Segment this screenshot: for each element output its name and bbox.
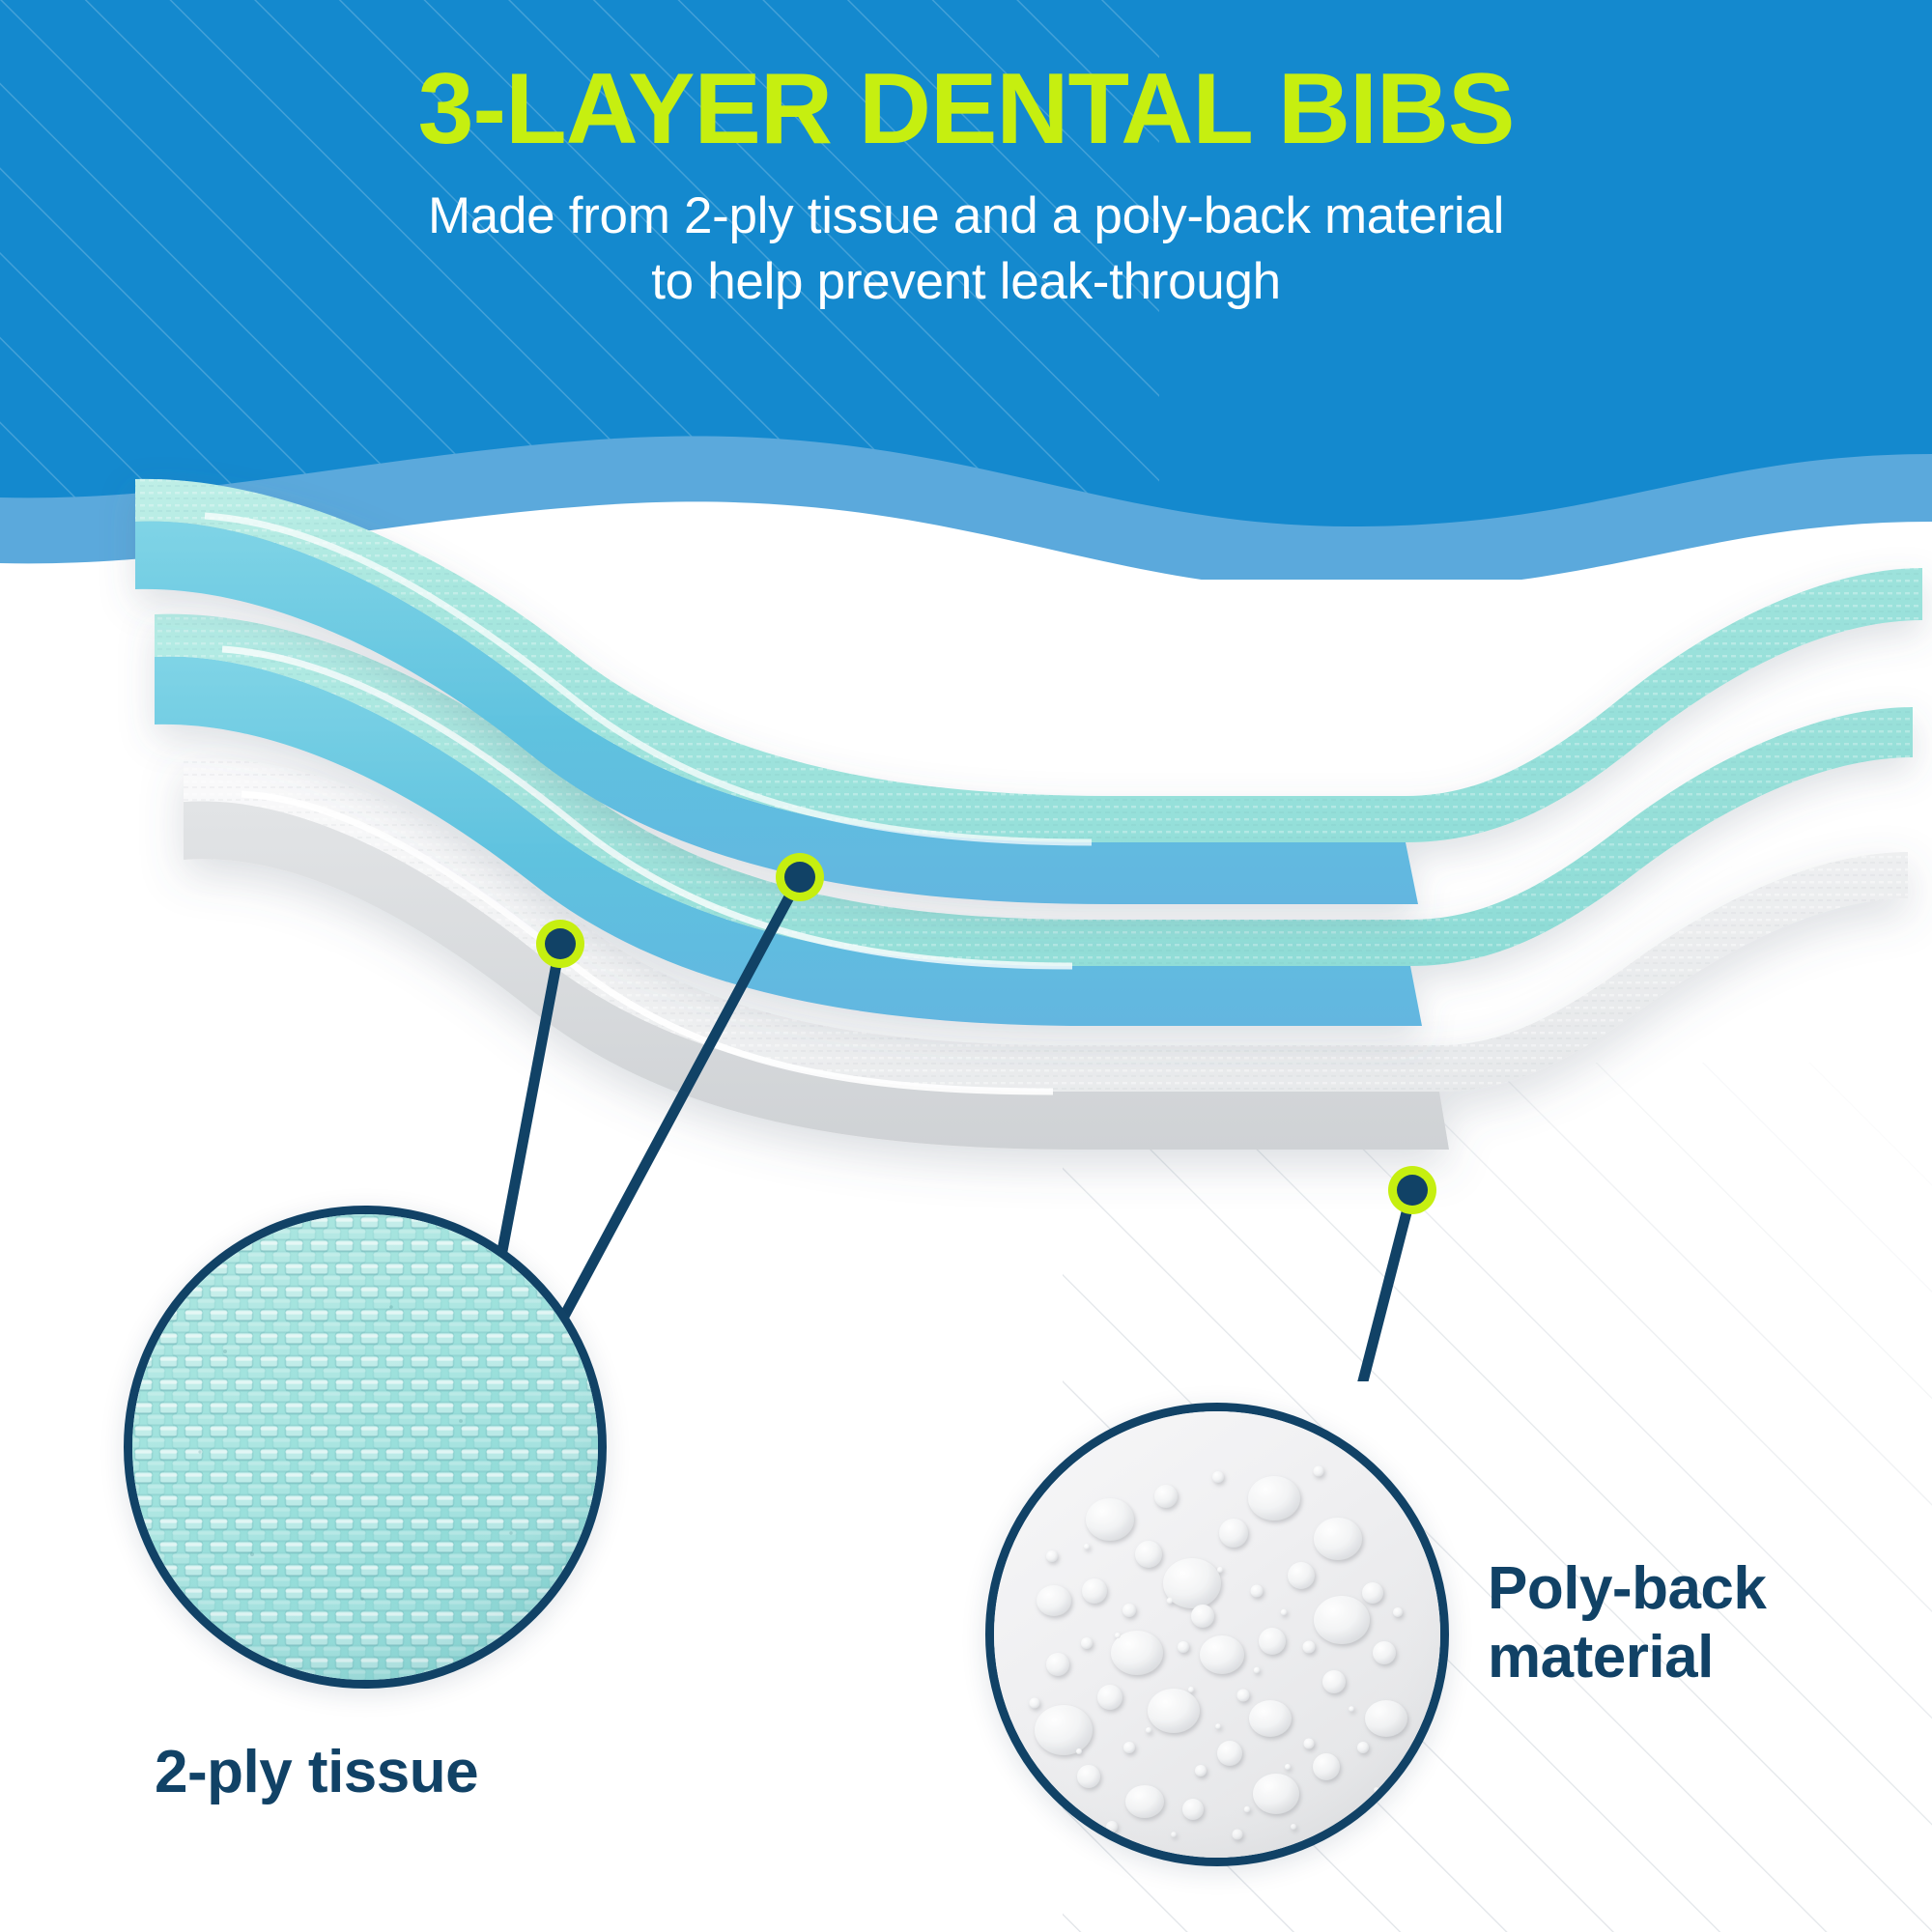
callout-label-poly-line-1: Poly-back xyxy=(1488,1555,1766,1622)
marker-poly-back-dot[interactable] xyxy=(1388,1166,1436,1214)
callout-circle-tissue[interactable] xyxy=(124,1206,607,1689)
callout-label-poly-line-2: material xyxy=(1488,1624,1766,1692)
embossed-waffle-texture-icon xyxy=(132,1214,598,1680)
subtitle-line-2: to help prevent leak-through xyxy=(428,249,1504,315)
header-text-block: 3-LAYER DENTAL BIBS Made from 2-ply tiss… xyxy=(0,0,1932,454)
leader-line-poly-back xyxy=(1333,1190,1412,1381)
water-droplets-beading-icon xyxy=(994,1411,1440,1858)
callout-label-poly-back: Poly-back material xyxy=(1488,1555,1766,1691)
subtitle-line-1: Made from 2-ply tissue and a poly-back m… xyxy=(428,187,1504,244)
marker-top-tissue-dot[interactable] xyxy=(776,853,824,901)
callout-circle-poly-back[interactable] xyxy=(985,1403,1449,1866)
infographic-canvas: 3-LAYER DENTAL BIBS Made from 2-ply tiss… xyxy=(0,0,1932,1932)
callout-label-tissue: 2-ply tissue xyxy=(155,1739,478,1807)
marker-middle-tissue-dot[interactable] xyxy=(536,920,584,968)
page-title: 3-LAYER DENTAL BIBS xyxy=(418,56,1515,162)
page-subtitle: Made from 2-ply tissue and a poly-back m… xyxy=(428,184,1504,315)
